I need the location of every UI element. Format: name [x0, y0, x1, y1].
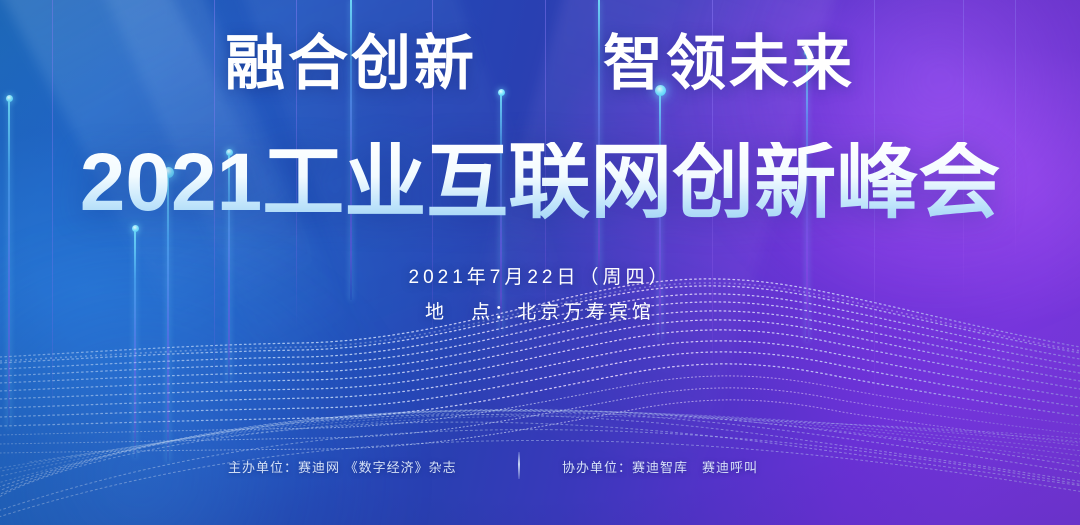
- blue-glow: [0, 245, 420, 525]
- co-organizer-credit: 协办单位：赛迪智库 赛迪呼叫: [562, 458, 758, 478]
- poster-title: 2021工业互联网创新峰会: [0, 142, 1080, 224]
- light-beam: [134, 228, 136, 458]
- organizer-credit: 主办单位：赛迪网 《数字经济》杂志: [228, 458, 457, 478]
- beam-dot-icon: [6, 95, 13, 102]
- event-date: 2021年7月22日（周四）: [0, 268, 1080, 287]
- conference-poster: 融合创新 智领未来 2021工业互联网创新峰会 2021年7月22日（周四） 地…: [0, 0, 1080, 525]
- footer-divider: [518, 452, 520, 479]
- event-venue: 地 点：北京万寿宾馆: [0, 303, 1080, 322]
- poster-tagline: 融合创新 智领未来: [0, 34, 1080, 94]
